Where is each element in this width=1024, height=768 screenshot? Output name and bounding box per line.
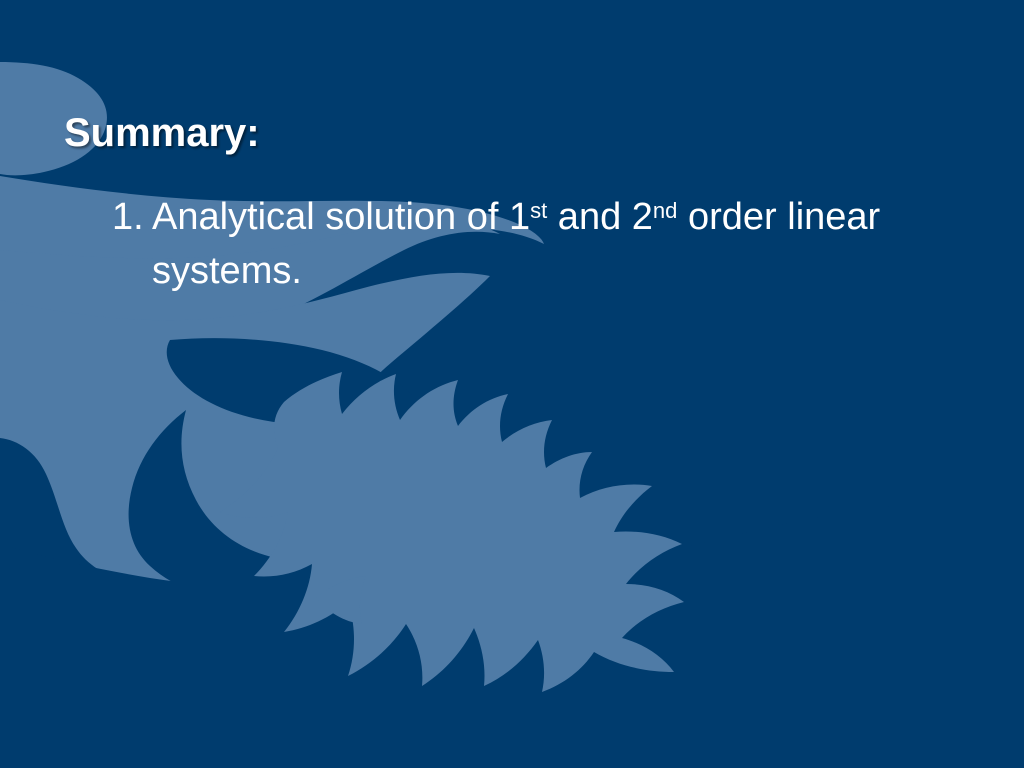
list-item-number: 1. [112,190,152,244]
summary-list: 1.Analytical solution of 1st and 2nd ord… [112,190,952,298]
list-item: 1.Analytical solution of 1st and 2nd ord… [112,190,952,298]
page-title: Summary: [64,111,260,156]
list-item-text-part2: and 2 [547,196,653,238]
presentation-slide: Summary: 1.Analytical solution of 1st an… [0,0,1024,768]
ordinal-suffix-first: st [530,198,547,223]
slide-content: Summary: 1.Analytical solution of 1st an… [0,0,1024,768]
ordinal-suffix-second: nd [653,198,678,223]
list-item-text-part1: Analytical solution of 1 [152,196,530,238]
